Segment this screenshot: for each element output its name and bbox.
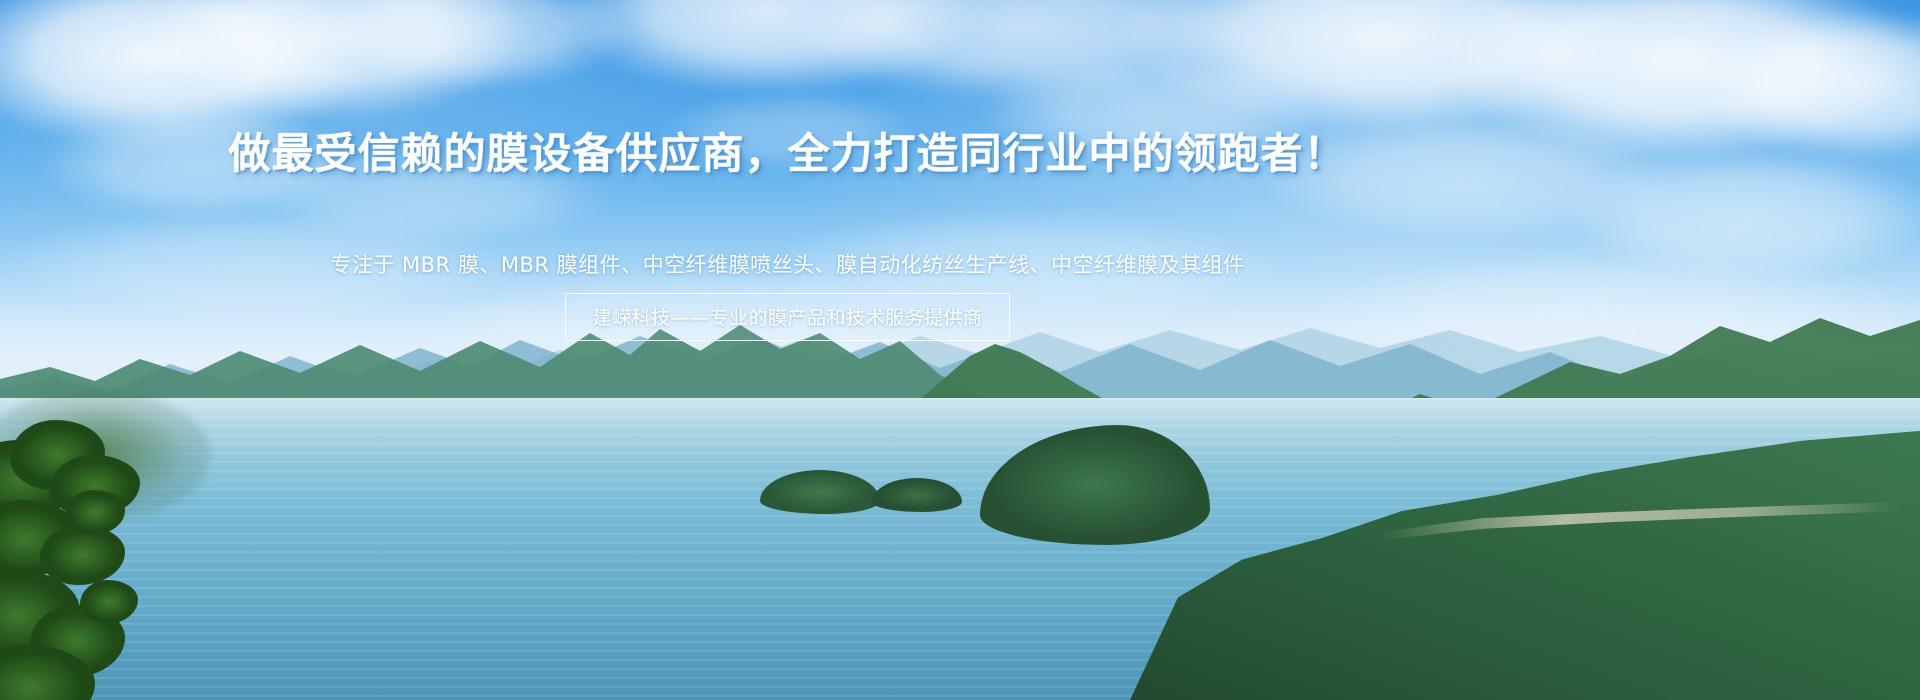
banner-headline: 做最受信赖的膜设备供应商，全力打造同行业中的领跑者！ <box>0 128 1575 180</box>
banner-text-overlay: 做最受信赖的膜设备供应商，全力打造同行业中的领跑者！ 专注于 MBR 膜、MBR… <box>0 0 1920 700</box>
banner-tagline-box: 建嵘科技——专业的膜产品和技术服务提供商 <box>565 293 1009 341</box>
banner-subtitle: 专注于 MBR 膜、MBR 膜组件、中空纤维膜喷丝头、膜自动化纺丝生产线、中空纤… <box>0 251 1575 279</box>
hero-banner: 做最受信赖的膜设备供应商，全力打造同行业中的领跑者！ 专注于 MBR 膜、MBR… <box>0 0 1920 700</box>
banner-tagline-wrap: 建嵘科技——专业的膜产品和技术服务提供商 <box>0 293 1575 341</box>
